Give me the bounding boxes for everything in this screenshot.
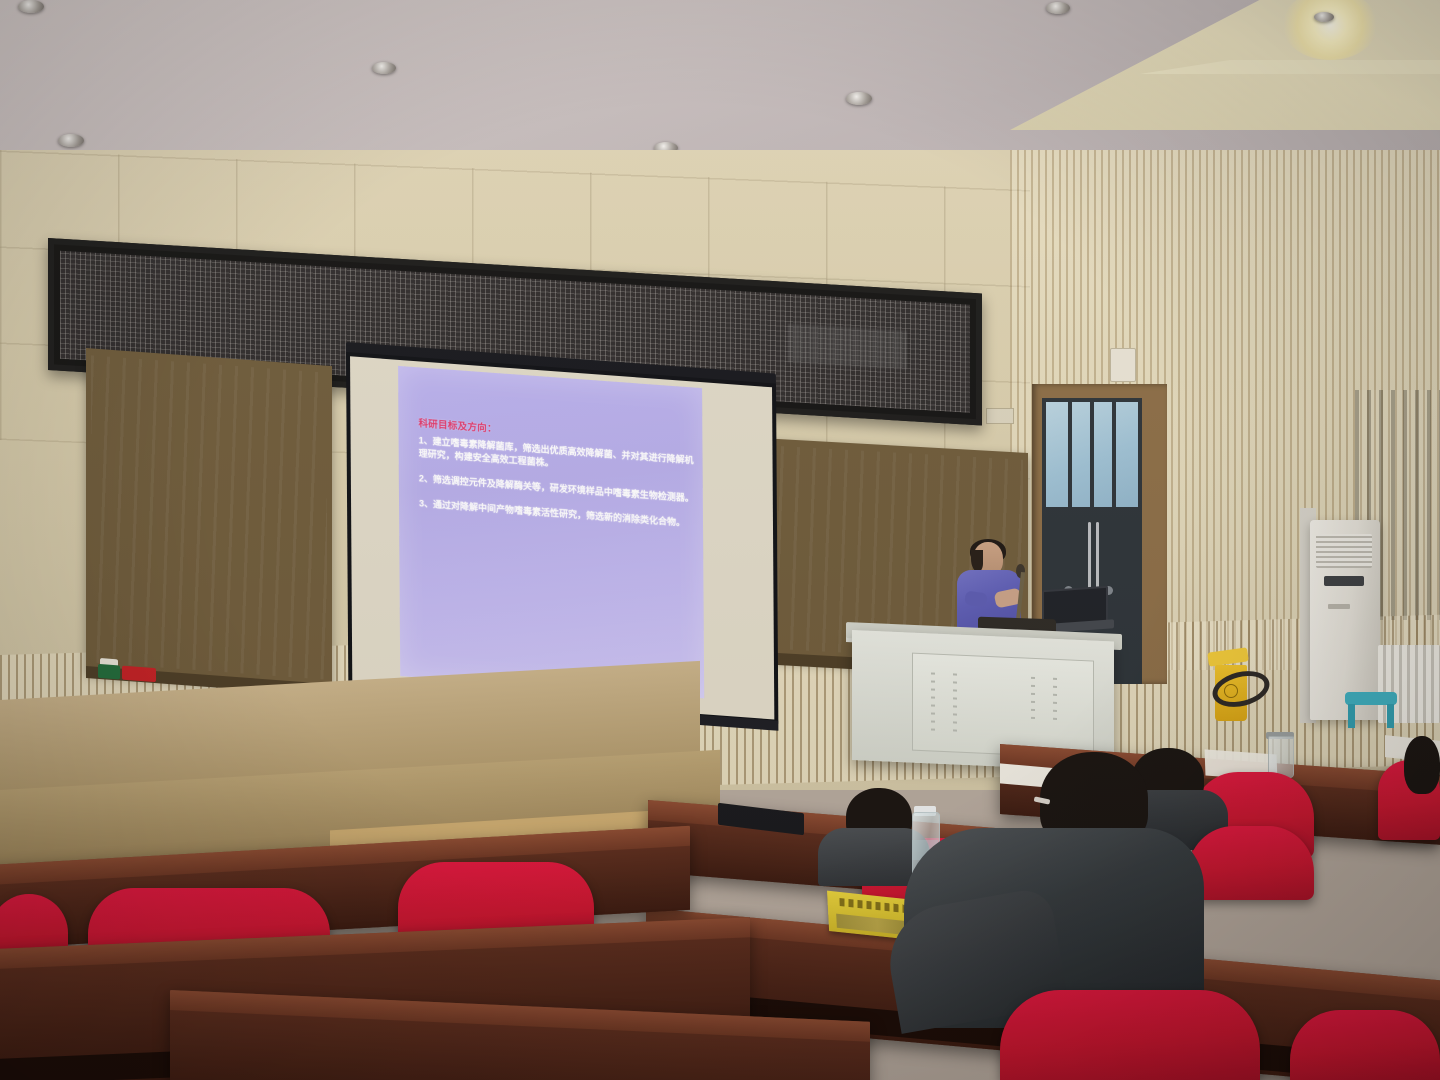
door-mullion (1068, 402, 1072, 507)
chair[interactable] (1000, 990, 1260, 1080)
stool-leg (1387, 704, 1394, 728)
led-lit-segment (789, 324, 909, 369)
attendee-rightmost-head (1404, 736, 1440, 794)
left-chalkboard (86, 348, 332, 690)
eraser-green (98, 664, 120, 680)
podium-front-panel (912, 653, 1094, 759)
ceiling-spotlight-icon (1046, 2, 1070, 14)
eraser-red (122, 666, 156, 682)
presentation-slide: 科研目标及方向： 1、建立嗜毒素降解菌库，筛选出优质高效降解菌、并对其进行降解机… (398, 366, 704, 699)
wall-speaker (1110, 348, 1136, 382)
ceiling-spotlight-icon (18, 0, 44, 13)
ceiling-spotlight-icon (58, 134, 84, 147)
screen-surface: 科研目标及方向： 1、建立嗜毒素降解菌库，筛选出优质高效降解菌、并对其进行降解机… (350, 356, 774, 719)
ac-brand-logo (1328, 604, 1350, 609)
wall-sensor-panel (986, 408, 1014, 424)
ac-grille (1316, 534, 1372, 568)
teal-stool (1345, 692, 1397, 726)
stool-leg (1348, 704, 1355, 728)
chalkboard-surface (91, 355, 327, 679)
chair[interactable] (1188, 826, 1314, 900)
door-mullion (1112, 402, 1116, 507)
ac-control-panel[interactable] (1324, 576, 1364, 586)
chair[interactable] (1290, 1010, 1440, 1080)
ceiling-spotlight-icon (372, 62, 396, 74)
lecture-hall-photo: 科研目标及方向： 1、建立嗜毒素降解菌库，筛选出优质高效降解菌、并对其进行降解机… (0, 0, 1440, 1080)
ceiling-spotlight-icon (846, 92, 872, 105)
door-mullion (1090, 402, 1094, 507)
presenter-hair-side (971, 550, 983, 572)
air-conditioner-unit (1310, 520, 1380, 720)
ceiling-spotlight-icon (1314, 12, 1334, 22)
